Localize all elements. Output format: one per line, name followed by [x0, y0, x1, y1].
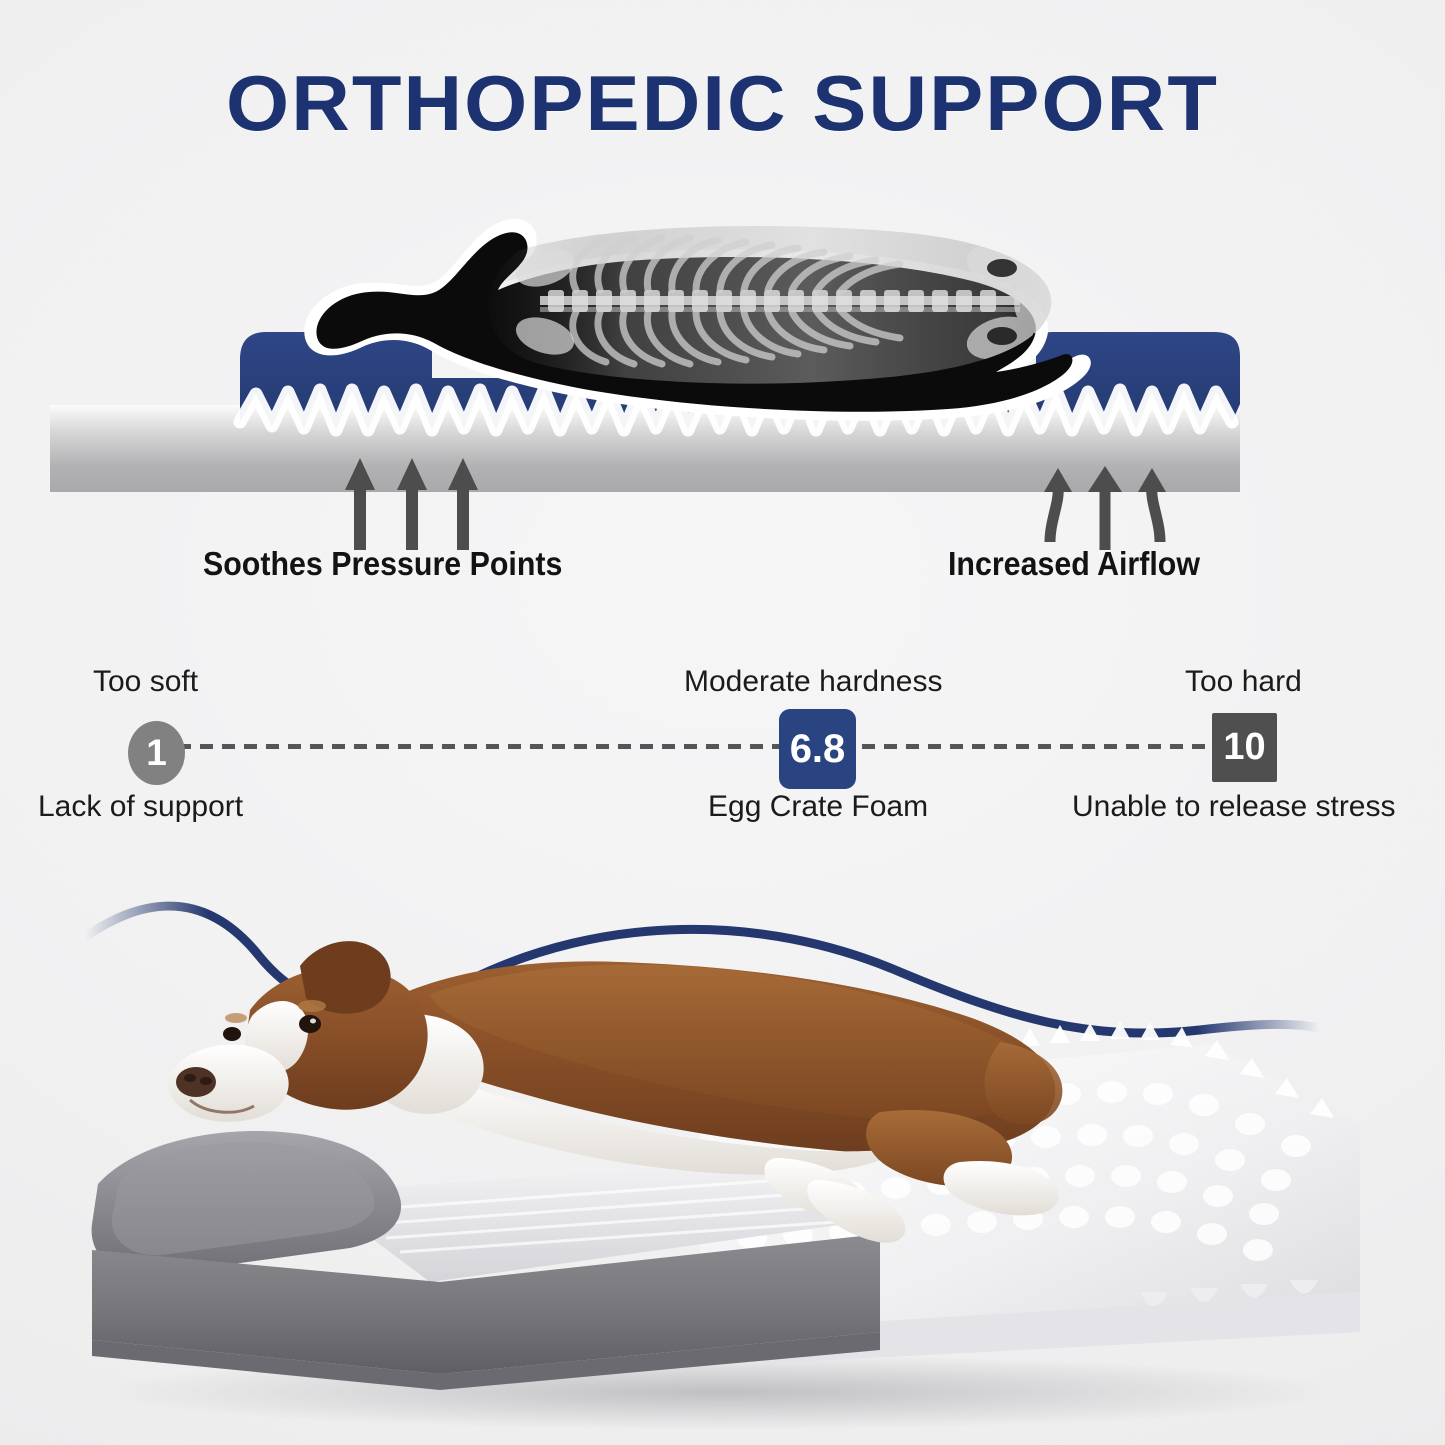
hardness-scale: Too soft Moderate hardness Too hard 1 6.…: [0, 655, 1445, 840]
foam-cross-section-diagram: [0, 190, 1445, 550]
scale-label-too-hard: Too hard: [1185, 665, 1302, 699]
scale-track: 1 6.8 10: [0, 733, 1445, 761]
scale-dashed-segment-right: [862, 744, 1242, 749]
product-photo: [0, 862, 1445, 1445]
caption-increased-airflow: Increased Airflow: [948, 545, 1200, 583]
scale-label-moderate-hardness: Moderate hardness: [684, 665, 943, 699]
scale-sublabel-egg-crate-foam: Egg Crate Foam: [708, 790, 928, 824]
airflow-arrows: [1050, 486, 1160, 550]
scale-marker-min[interactable]: 1: [128, 721, 185, 785]
scale-label-too-soft: Too soft: [93, 665, 198, 699]
dog-eye-right: [299, 1015, 321, 1033]
scale-sublabel-unable-to-release-stress: Unable to release stress: [1072, 790, 1396, 824]
scale-sublabel-lack-of-support: Lack of support: [38, 790, 243, 824]
scale-marker-max[interactable]: 10: [1212, 713, 1277, 782]
caption-soothes-pressure-points: Soothes Pressure Points: [203, 545, 562, 583]
infographic-canvas: ORTHOPEDIC SUPPORT: [0, 0, 1445, 1445]
diagram-captions: Soothes Pressure Points Increased Airflo…: [0, 545, 1445, 591]
scale-dashed-segment-left: [178, 744, 818, 749]
page-title: ORTHOPEDIC SUPPORT: [0, 58, 1445, 149]
dog-eye-left: [223, 1027, 241, 1041]
pressure-point-arrows: [345, 458, 478, 550]
scale-marker-current[interactable]: 6.8: [779, 709, 856, 789]
bolster-headrest: [92, 1131, 401, 1275]
